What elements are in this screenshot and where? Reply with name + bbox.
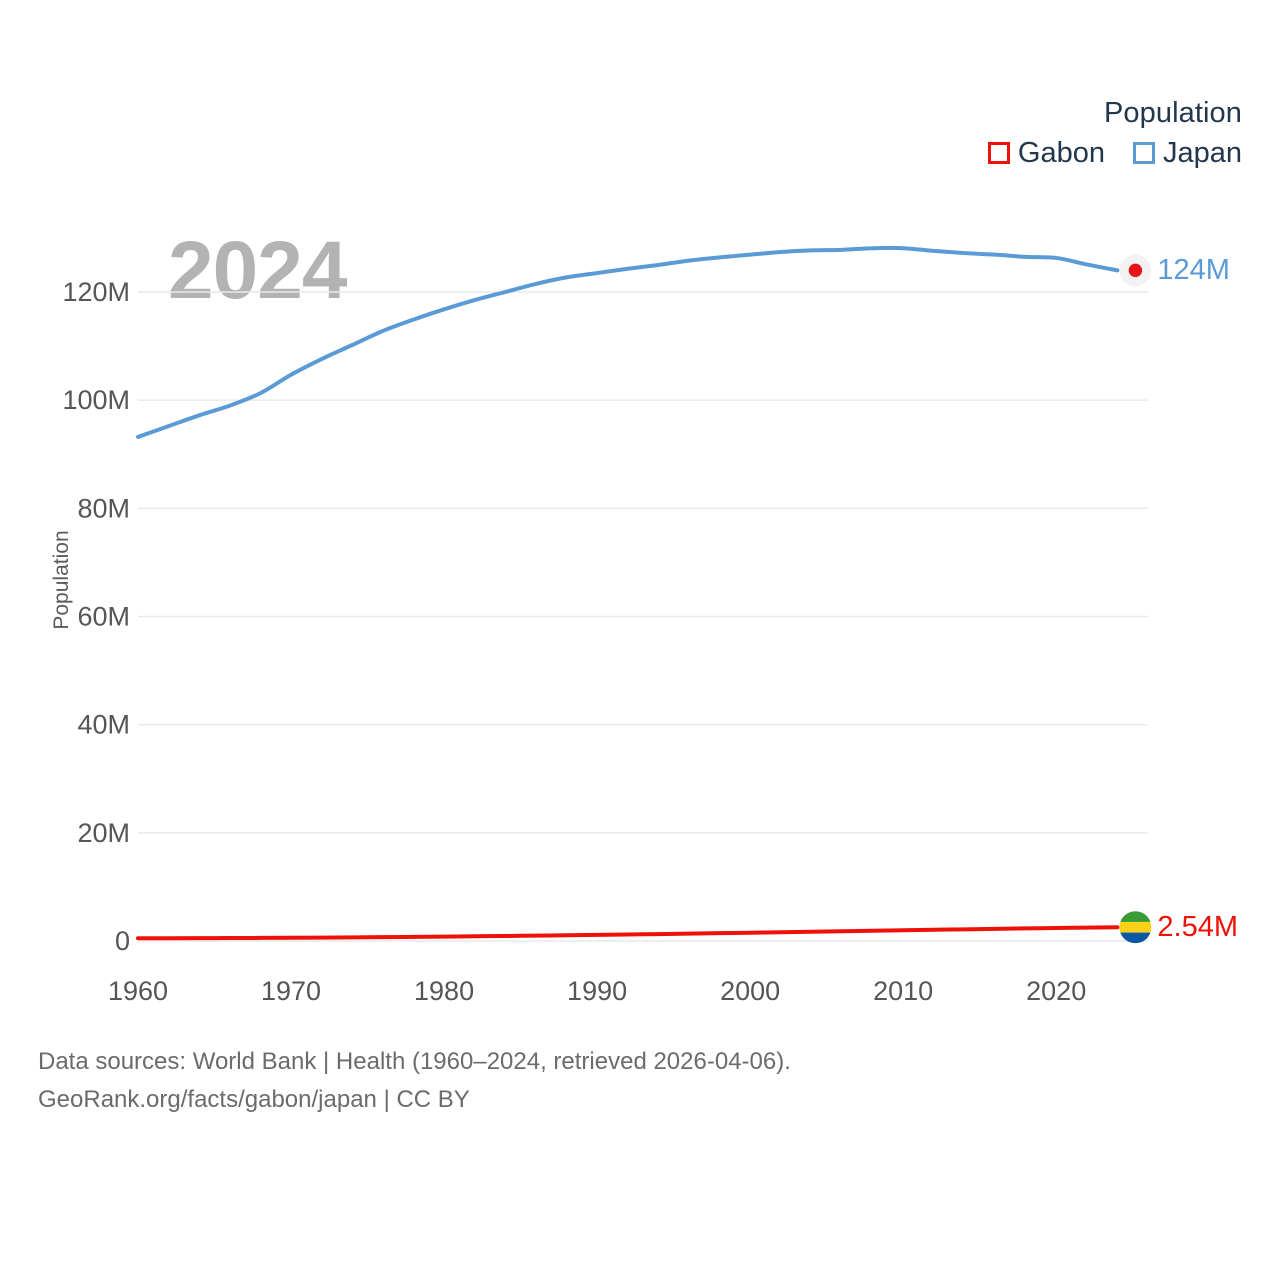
japan-flag-icon xyxy=(1119,254,1151,286)
y-tick-label: 20M xyxy=(77,818,130,848)
gabon-flag-icon xyxy=(1119,911,1151,943)
y-tick-label: 100M xyxy=(62,385,130,415)
series-line-japan xyxy=(138,248,1117,437)
end-markers: 124M2.54M xyxy=(1119,254,1238,943)
x-tick-label: 2020 xyxy=(1026,976,1086,1006)
footer-line-1: Data sources: World Bank | Health (1960–… xyxy=(38,1043,791,1081)
x-tick-label: 1990 xyxy=(567,976,627,1006)
x-axis-ticklabels: 1960197019801990200020102020 xyxy=(108,976,1086,1006)
series-lines xyxy=(138,248,1117,938)
x-tick-label: 1970 xyxy=(261,976,321,1006)
y-tick-label: 60M xyxy=(77,602,130,632)
x-tick-label: 1960 xyxy=(108,976,168,1006)
y-tick-label: 80M xyxy=(77,493,130,523)
x-tick-label: 2010 xyxy=(873,976,933,1006)
x-tick-label: 1980 xyxy=(414,976,474,1006)
x-tick-label: 2000 xyxy=(720,976,780,1006)
y-tick-label: 120M xyxy=(62,277,130,307)
japan-end-value: 124M xyxy=(1157,254,1230,286)
y-tick-label: 0 xyxy=(115,926,130,956)
gabon-end-value: 2.54M xyxy=(1157,911,1238,943)
gridlines xyxy=(138,292,1148,941)
y-axis-title: Population xyxy=(50,530,73,629)
y-tick-label: 40M xyxy=(77,710,130,740)
footer-line-2: GeoRank.org/facts/gabon/japan | CC BY xyxy=(38,1081,791,1119)
footer-credits: Data sources: World Bank | Health (1960–… xyxy=(38,1043,791,1119)
series-line-gabon xyxy=(138,927,1117,938)
population-chart: Population Gabon Japan 2024 020M40M60M80… xyxy=(0,0,1280,1280)
